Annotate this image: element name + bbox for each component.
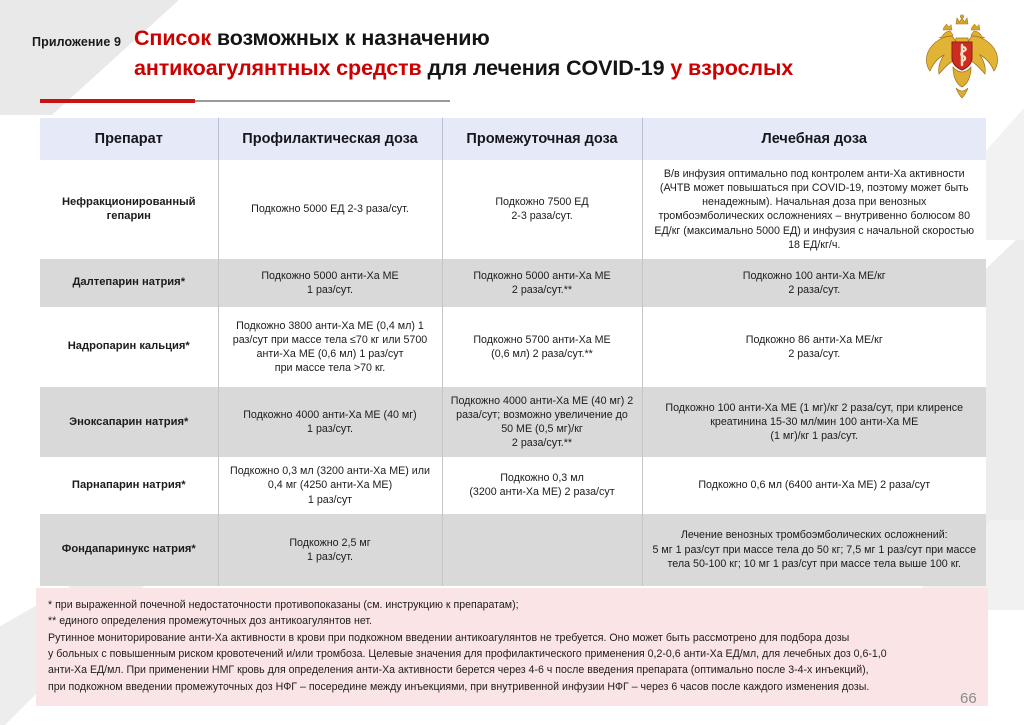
title-segment-1: Список: [134, 26, 211, 50]
cell-drug: Фондапаринукс натрия*: [40, 514, 218, 586]
title-underline: [40, 99, 450, 103]
column-header-prophylactic: Профилактическая доза: [218, 118, 442, 160]
cell-drug: Парнапарин натрия*: [40, 457, 218, 513]
cell-prophylactic: Подкожно 2,5 мг1 раз/сут.: [218, 514, 442, 586]
anticoagulant-dose-table: Препарат Профилактическая доза Промежуто…: [40, 118, 986, 586]
title-underline-red: [40, 99, 195, 103]
cell-drug: Эноксапарин натрия*: [40, 387, 218, 458]
page-title: Список возможных к назначению антикоагул…: [134, 24, 894, 83]
title-segment-3: антикоагулянтных средств: [134, 56, 422, 80]
slide-header: Приложение 9 Список возможных к назначен…: [0, 0, 1024, 112]
column-header-drug: Препарат: [40, 118, 218, 160]
footnote-line: * при выраженной почечной недостаточност…: [48, 598, 976, 613]
table-row: Эноксапарин натрия* Подкожно 4000 анти-Х…: [40, 387, 986, 458]
column-header-intermediate: Промежуточная доза: [442, 118, 642, 160]
footnote-line: у больных с повышенным риском кровотечен…: [48, 647, 976, 662]
slide-root: Приложение 9 Список возможных к назначен…: [0, 0, 1024, 725]
cell-therapeutic: Подкожно 100 анти-Ха МЕ/кг2 раза/сут.: [642, 259, 986, 307]
cell-prophylactic: Подкожно 5000 анти-Ха МЕ1 раз/сут.: [218, 259, 442, 307]
footnote-line: ** единого определения промежуточных доз…: [48, 614, 976, 629]
cell-therapeutic: В/в инфузия оптимально под контролем ант…: [642, 160, 986, 259]
column-header-therapeutic: Лечебная доза: [642, 118, 986, 160]
title-underline-gray: [195, 100, 450, 102]
cell-prophylactic: Подкожно 3800 анти-Ха МЕ (0,4 мл) 1 раз/…: [218, 307, 442, 387]
cell-intermediate: Подкожно 5000 анти-Ха МЕ2 раза/сут.**: [442, 259, 642, 307]
cell-prophylactic: Подкожно 4000 анти-Ха МЕ (40 мг)1 раз/су…: [218, 387, 442, 458]
cell-intermediate: [442, 514, 642, 586]
cell-therapeutic: Подкожно 0,6 мл (6400 анти-Ха МЕ) 2 раза…: [642, 457, 986, 513]
table-row: Фондапаринукс натрия* Подкожно 2,5 мг1 р…: [40, 514, 986, 586]
cell-therapeutic: Лечение венозных тромбоэмболических осло…: [642, 514, 986, 586]
table-row: Надропарин кальция* Подкожно 3800 анти-Х…: [40, 307, 986, 387]
cell-intermediate: Подкожно 7500 ЕД2-3 раза/сут.: [442, 160, 642, 259]
cell-drug: Надропарин кальция*: [40, 307, 218, 387]
table-row: Парнапарин натрия* Подкожно 0,3 мл (3200…: [40, 457, 986, 513]
cell-drug: Нефракционированный гепарин: [40, 160, 218, 259]
cell-prophylactic: Подкожно 5000 ЕД 2-3 раза/сут.: [218, 160, 442, 259]
table-row: Нефракционированный гепарин Подкожно 500…: [40, 160, 986, 259]
footnote-line: Рутинное мониторирование анти-Ха активно…: [48, 631, 976, 646]
title-segment-2: возможных к назначению: [217, 26, 490, 50]
footnote-line: анти-Ха ЕД/мл. При применении НМГ кровь …: [48, 663, 976, 678]
title-segment-4: для лечения COVID-19: [427, 56, 664, 80]
anticoagulant-dose-table-container: Препарат Профилактическая доза Промежуто…: [40, 118, 986, 586]
cell-therapeutic: Подкожно 86 анти-Ха МЕ/кг2 раза/сут.: [642, 307, 986, 387]
table-body: Нефракционированный гепарин Подкожно 500…: [40, 160, 986, 586]
page-number: 66: [960, 690, 977, 707]
footnote-line: при подкожном введении промежуточных доз…: [48, 680, 976, 695]
footnote-box: * при выраженной почечной недостаточност…: [36, 588, 988, 706]
cell-drug: Далтепарин натрия*: [40, 259, 218, 307]
cell-prophylactic: Подкожно 0,3 мл (3200 анти-Ха МЕ) или 0,…: [218, 457, 442, 513]
table-row: Далтепарин натрия* Подкожно 5000 анти-Ха…: [40, 259, 986, 307]
cell-intermediate: Подкожно 4000 анти-Ха МЕ (40 мг) 2 раза/…: [442, 387, 642, 458]
russian-ministry-of-health-emblem: [920, 14, 1004, 102]
title-segment-5: у взрослых: [670, 56, 793, 80]
appendix-label: Приложение 9: [32, 35, 121, 49]
cell-therapeutic: Подкожно 100 анти-Ха МЕ (1 мг)/кг 2 раза…: [642, 387, 986, 458]
cell-intermediate: Подкожно 5700 анти-Ха МЕ(0,6 мл) 2 раза/…: [442, 307, 642, 387]
table-header-row: Препарат Профилактическая доза Промежуто…: [40, 118, 986, 160]
cell-intermediate: Подкожно 0,3 мл(3200 анти-Ха МЕ) 2 раза/…: [442, 457, 642, 513]
